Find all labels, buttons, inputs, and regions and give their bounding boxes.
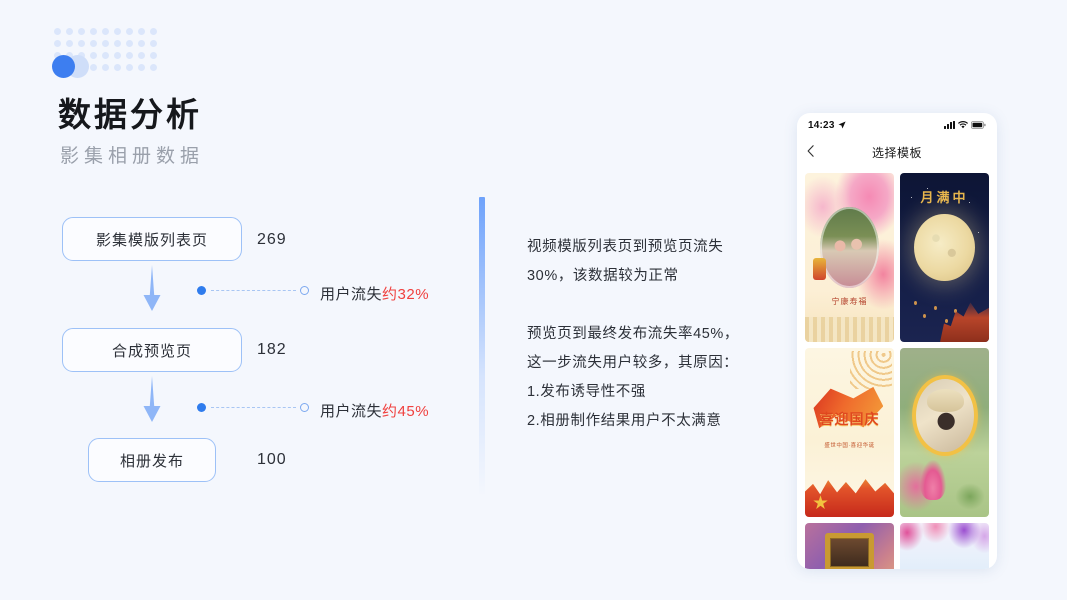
brand-circles-icon xyxy=(52,55,96,79)
loss-label-1-prefix: 用户流失 xyxy=(320,286,382,303)
loss-label-2-prefix: 用户流失 xyxy=(320,403,382,420)
template-photo-oval xyxy=(820,207,879,288)
moon-disc-icon xyxy=(914,214,975,282)
connector-start-dot-icon xyxy=(197,286,206,295)
template-wave-border xyxy=(805,317,894,342)
template-card-national-day[interactable]: 喜迎国庆 盛世中国·喜迎华诞 xyxy=(805,348,894,517)
analysis-text-block: 视频模版列表页到预览页流失 30%，该数据较为正常 预览页到最终发布流失率45%… xyxy=(527,233,767,436)
loss-label-1: 用户流失约32% xyxy=(320,283,429,304)
phone-nav-bar: 选择模板 xyxy=(797,137,997,167)
swirl-decoration-icon xyxy=(850,351,893,388)
slide-canvas: 数据分析 影集相册数据 影集模版列表页 269 用户流失约32% 合成预览页 1… xyxy=(0,0,1067,600)
funnel-node-3-label: 相册发布 xyxy=(120,450,184,471)
loss-label-1-percent: 约32% xyxy=(382,286,429,303)
sun-hat-icon xyxy=(927,389,964,413)
funnel-node-3-value: 100 xyxy=(257,451,287,469)
connector-start-dot-icon xyxy=(197,403,206,412)
connector-end-dot-icon xyxy=(300,403,309,412)
funnel-node-2-label: 合成预览页 xyxy=(112,340,192,361)
gold-ring-frame-icon xyxy=(912,375,978,456)
section-divider xyxy=(479,197,485,497)
template-card-gold-frame[interactable] xyxy=(805,523,894,569)
loss-label-2-percent: 约45% xyxy=(382,403,429,420)
page-title: 数据分析 xyxy=(58,88,202,136)
funnel-node-2[interactable]: 合成预览页 xyxy=(62,328,242,372)
lotus-flower-icon xyxy=(920,460,947,501)
template-caption: 宁康寿福 xyxy=(805,296,894,307)
analysis-p2-line1: 预览页到最终发布流失率45%， xyxy=(527,320,767,349)
funnel-node-1-value: 269 xyxy=(257,231,287,249)
chevron-left-icon[interactable] xyxy=(807,145,814,160)
phone-mockup: 14:23 xyxy=(797,113,997,569)
template-card-lotus-portrait[interactable] xyxy=(900,348,989,517)
phone-status-bar: 14:23 xyxy=(797,113,997,137)
chinese-knot-icon xyxy=(813,258,826,280)
wifi-icon xyxy=(958,116,968,134)
template-card-mid-autumn-moon[interactable]: 月满中 xyxy=(900,173,989,342)
paragraph-spacer xyxy=(527,291,767,320)
template-caption: 喜迎国庆 xyxy=(805,409,894,429)
analysis-p2-line4: 2.相册制作结果用户不太满意 xyxy=(527,407,767,436)
loss-label-2: 用户流失约45% xyxy=(320,400,429,421)
lotus-pad-icon xyxy=(955,483,985,510)
template-subcaption: 盛世中国·喜迎华诞 xyxy=(805,441,894,449)
battery-icon xyxy=(971,116,986,134)
funnel-node-3[interactable]: 相册发布 xyxy=(88,438,216,482)
template-card-birthday-longevity[interactable]: 宁康寿福 xyxy=(805,173,894,342)
analysis-p2-line2: 这一步流失用户较多，其原因： xyxy=(527,349,767,378)
page-subtitle: 影集相册数据 xyxy=(60,141,204,168)
signal-bars-icon xyxy=(944,121,955,129)
connector-dashed-line xyxy=(211,290,296,291)
analysis-p1-line1: 视频模版列表页到预览页流失 xyxy=(527,233,767,262)
template-caption: 月满中 xyxy=(900,187,989,206)
funnel-node-1-label: 影集模版列表页 xyxy=(96,229,208,250)
flow-arrow-2-icon xyxy=(141,376,163,422)
funnel-node-2-value: 182 xyxy=(257,341,287,359)
funnel-node-1[interactable]: 影集模版列表页 xyxy=(62,217,242,261)
crowd-silhouette-icon xyxy=(805,470,894,517)
template-grid: 宁康寿福 月满中 喜迎国庆 xyxy=(797,167,997,569)
phone-nav-title: 选择模板 xyxy=(872,144,922,161)
template-card-pastel-flowers[interactable] xyxy=(900,523,989,569)
gold-picture-frame-icon xyxy=(825,533,875,569)
flow-arrow-1-icon xyxy=(141,265,163,311)
connector-end-dot-icon xyxy=(300,286,309,295)
analysis-p1-line2: 30%，该数据较为正常 xyxy=(527,262,767,291)
status-bar-time: 14:23 xyxy=(808,120,835,131)
connector-dashed-line xyxy=(211,407,296,408)
status-bar-indicators xyxy=(944,116,986,134)
location-arrow-icon xyxy=(838,116,846,134)
analysis-p2-line3: 1.发布诱导性不强 xyxy=(527,378,767,407)
